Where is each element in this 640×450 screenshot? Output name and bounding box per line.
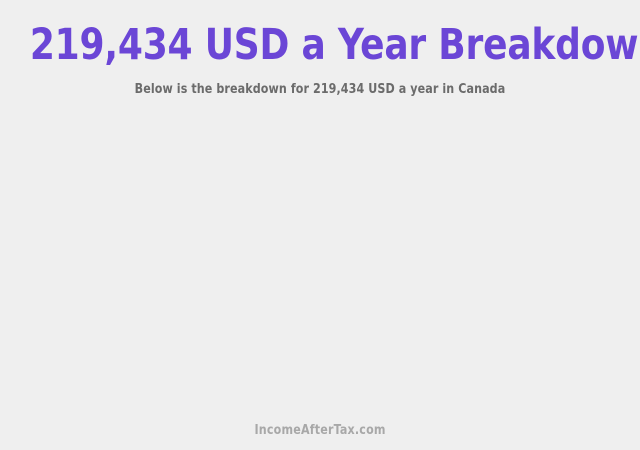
site-credit-label: IncomeAfterTax.com (254, 423, 385, 439)
page-footer: IncomeAfterTax.com (0, 421, 640, 439)
breakdown-content-region (0, 120, 640, 410)
page-subtitle: Below is the breakdown for 219,434 USD a… (16, 68, 624, 97)
page-title: 219,434 USD a Year Breakdown (22, 22, 617, 68)
income-breakdown-page: 219,434 USD a Year Breakdown Below is th… (0, 0, 640, 450)
page-header: 219,434 USD a Year Breakdown Below is th… (0, 0, 640, 97)
